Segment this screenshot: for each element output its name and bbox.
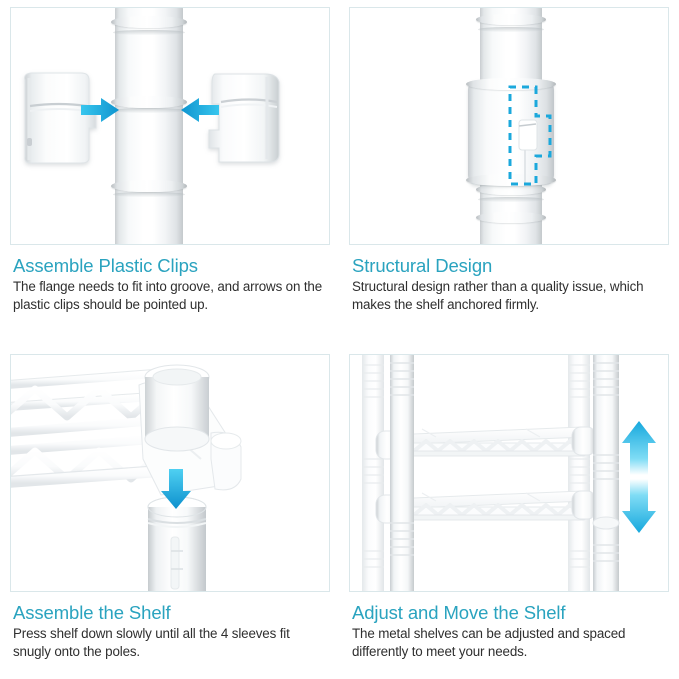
panel-assemble-the-shelf: Assemble the Shelf Press shelf down slow…: [0, 347, 340, 679]
panel-body: The flange needs to fit into groove, and…: [13, 278, 328, 313]
panel-body: Press shelf down slowly until all the 4 …: [13, 625, 328, 660]
arrow-left-icon: [179, 96, 219, 124]
figure-pole-with-two-plastic-clips: [10, 7, 330, 245]
panel-body: Structural design rather than a quality …: [352, 278, 667, 313]
caption-adjust-and-move-the-shelf: Adjust and Move the Shelf The metal shel…: [349, 592, 669, 661]
pole-ring-top: [111, 16, 187, 28]
panel-body: The metal shelves can be adjusted and sp…: [352, 625, 667, 660]
caption-assemble-the-shelf: Assemble the Shelf Press shelf down slow…: [10, 592, 330, 661]
panel-adjust-and-move-the-shelf: Adjust and Move the Shelf The metal shel…: [340, 347, 679, 679]
panel-structural-design: Structural Design Structural design rath…: [340, 0, 679, 347]
figure-wire-shelf-pressing-onto-sleeve: [10, 354, 330, 592]
arrow-down-icon: [622, 479, 656, 533]
panel-title: Assemble Plastic Clips: [13, 255, 328, 276]
figure-shelving-unit-two-shelves: [349, 354, 669, 592]
pole-groove-2: [113, 108, 185, 113]
caption-assemble-plastic-clips: Assemble Plastic Clips The flange needs …: [10, 245, 330, 314]
panel-title: Assemble the Shelf: [13, 602, 328, 623]
panel-title: Structural Design: [352, 255, 667, 276]
dashed-outline-icon: [350, 8, 669, 245]
shelving-unit-illustration: [350, 355, 669, 592]
caption-structural-design: Structural Design Structural design rath…: [349, 245, 669, 314]
panel-title: Adjust and Move the Shelf: [352, 602, 667, 623]
arrow-down-icon: [159, 469, 193, 511]
panel-assemble-plastic-clips: Assemble Plastic Clips The flange needs …: [0, 0, 340, 347]
figure-pole-sleeve-seam-highlight: [349, 7, 669, 245]
arrow-right-icon: [81, 96, 121, 124]
pole-groove-1: [113, 30, 185, 35]
pole-ring-mid: [111, 96, 187, 108]
pole-groove-3: [113, 192, 185, 197]
arrow-up-icon: [622, 421, 656, 475]
pole-ring-bottom: [111, 180, 187, 192]
support-pole: [115, 7, 183, 245]
instruction-sheet: Assemble Plastic Clips The flange needs …: [0, 0, 679, 679]
